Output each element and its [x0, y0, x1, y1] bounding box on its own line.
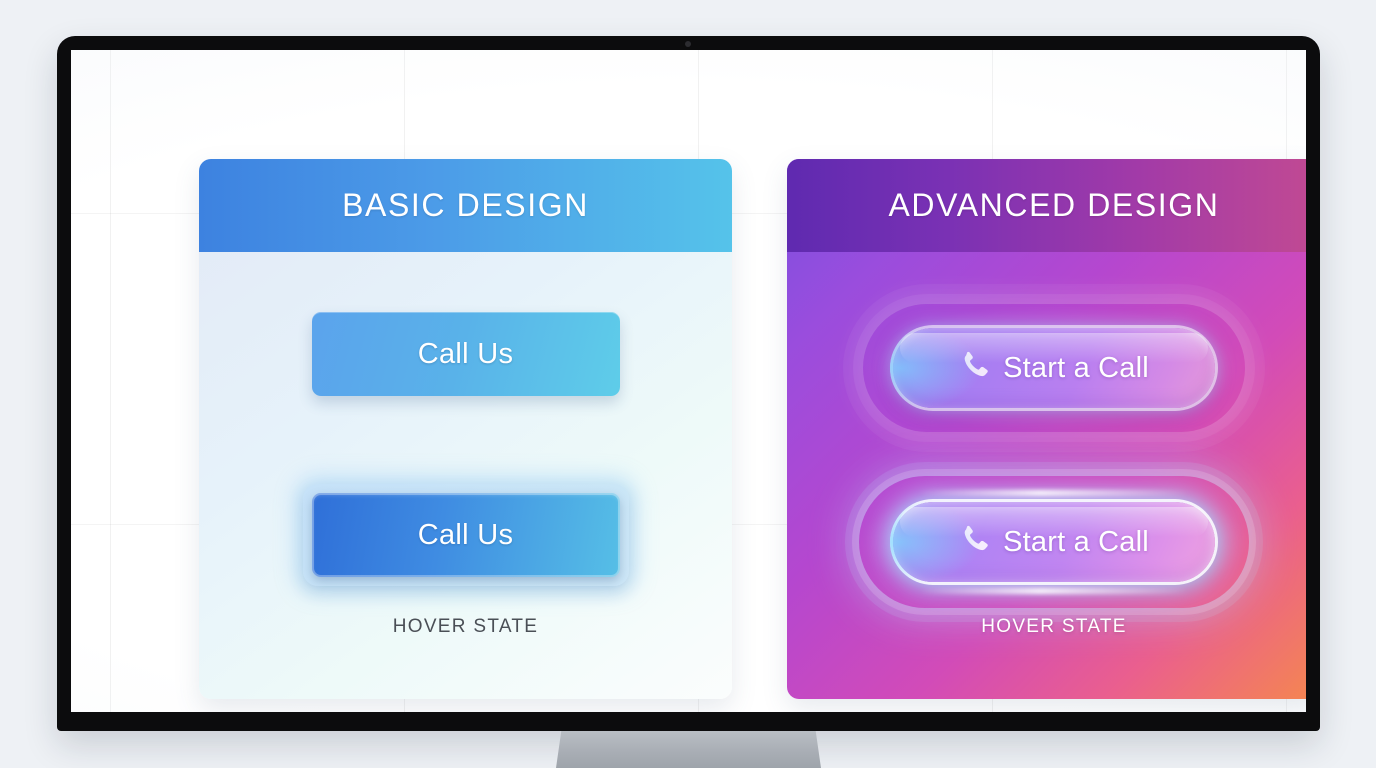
light-streak-bottom	[919, 588, 1189, 594]
call-us-button-hover[interactable]: Call Us	[312, 493, 620, 577]
light-streak-top	[919, 490, 1189, 496]
panel-basic-header: BASIC DESIGN	[199, 159, 732, 252]
phone-icon	[959, 349, 989, 387]
start-a-call-button-default[interactable]: Start a Call	[893, 328, 1215, 408]
call-us-button-default[interactable]: Call Us	[312, 312, 620, 396]
panel-basic-design: BASIC DESIGN Call Us Call Us	[199, 159, 732, 699]
call-us-button-default-label: Call Us	[418, 338, 514, 371]
start-a-call-button-hover-label: Start a Call	[1003, 526, 1149, 559]
start-a-call-button-hover[interactable]: Start a Call	[893, 502, 1215, 582]
panel-advanced-design: ADVANCED DESIGN	[787, 159, 1306, 699]
panel-basic-body: Call Us Call Us HOVER STATE	[199, 252, 732, 699]
start-a-call-button-default-label: Start a Call	[1003, 352, 1149, 385]
advanced-hover-button-wrap: Start a Call	[787, 476, 1306, 608]
phone-icon	[959, 523, 989, 561]
screenshot-stage: BASIC DESIGN Call Us Call Us	[0, 0, 1376, 768]
panel-basic-title: BASIC DESIGN	[342, 187, 589, 224]
panel-advanced-header: ADVANCED DESIGN	[787, 159, 1306, 252]
basic-default-button-wrap: Call Us	[199, 312, 732, 396]
monitor-stand	[556, 731, 821, 768]
call-us-button-hover-glow: Call Us	[303, 484, 629, 586]
panel-advanced-title: ADVANCED DESIGN	[888, 187, 1219, 224]
webcam-dot	[685, 41, 691, 47]
start-a-call-button-default-halo: Start a Call	[863, 304, 1245, 432]
monitor-screen: BASIC DESIGN Call Us Call Us	[71, 50, 1306, 712]
call-us-button-hover-label: Call Us	[418, 519, 514, 552]
panel-advanced-body: Start a Call	[787, 252, 1306, 699]
monitor-frame: BASIC DESIGN Call Us Call Us	[57, 36, 1320, 731]
start-a-call-button-hover-halo: Start a Call	[859, 476, 1249, 608]
basic-hover-state-caption: HOVER STATE	[199, 616, 732, 638]
advanced-hover-state-caption: HOVER STATE	[787, 616, 1306, 638]
advanced-default-button-wrap: Start a Call	[787, 304, 1306, 432]
basic-hover-button-wrap: Call Us	[199, 484, 732, 586]
